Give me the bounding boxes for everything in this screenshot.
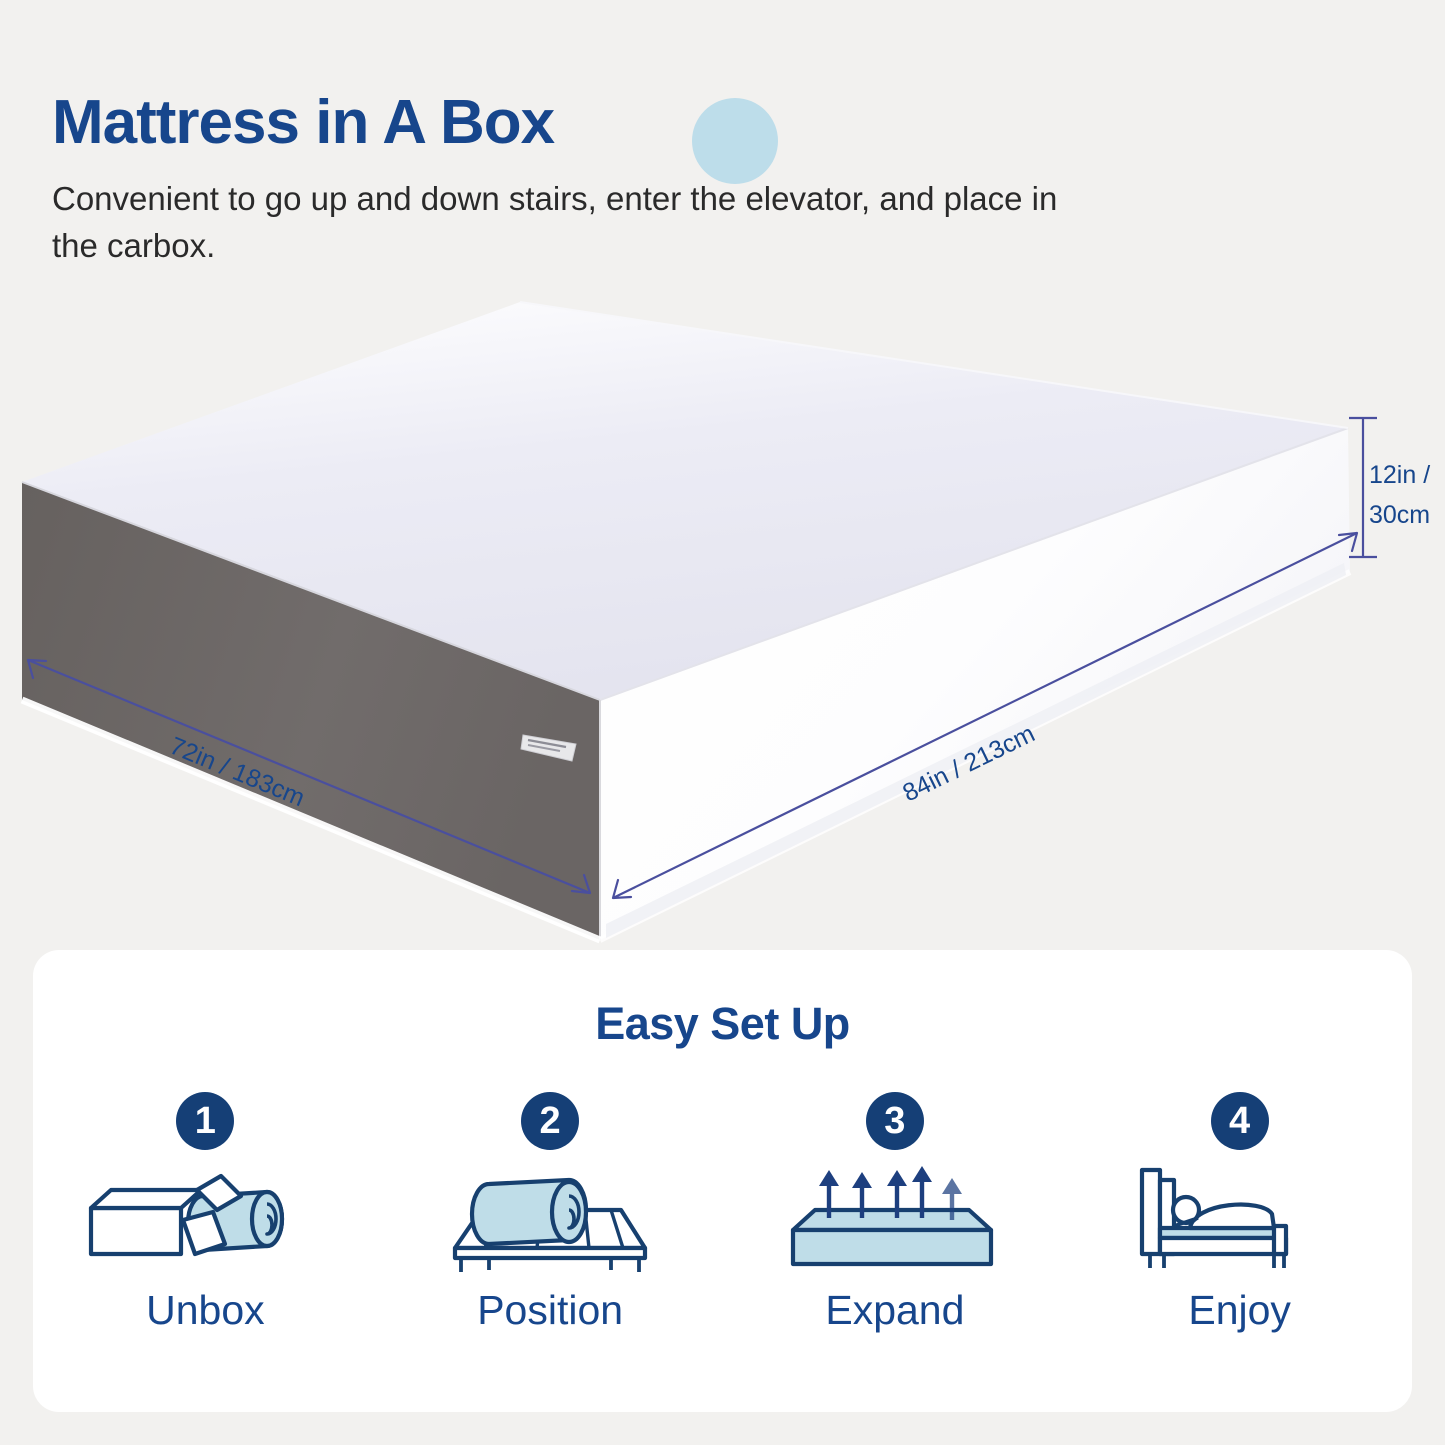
infographic-root: Mattress in A Box Convenient to go up an… xyxy=(0,0,1445,1445)
page-title-wrap: Mattress in A Box xyxy=(52,92,554,154)
setup-step-unbox: 1 xyxy=(55,1092,355,1331)
setup-steps: 1 xyxy=(33,1092,1412,1331)
box-body xyxy=(22,302,1350,940)
page-title: Mattress in A Box xyxy=(52,92,554,154)
dimension-height-label-line1: 12in / xyxy=(1369,461,1430,489)
setup-step-position: 2 xyxy=(400,1092,700,1331)
setup-step-enjoy: 4 xyxy=(1090,1092,1390,1331)
step-label: Position xyxy=(477,1290,623,1331)
easy-setup-card: Easy Set Up 1 xyxy=(33,950,1412,1412)
roll-on-bedframe-icon xyxy=(445,1166,655,1274)
step-number-badge: 3 xyxy=(866,1092,924,1150)
step-label: Enjoy xyxy=(1188,1290,1291,1331)
box-with-roll-icon xyxy=(85,1166,325,1274)
dimension-height-label-line2: 30cm xyxy=(1369,501,1430,529)
step-number-badge: 4 xyxy=(1211,1092,1269,1150)
step-label: Unbox xyxy=(146,1290,265,1331)
mattress-expanding-arrows-icon xyxy=(789,1166,1001,1274)
dimension-height: 12in / 30cm xyxy=(1349,418,1430,557)
step-number-badge: 2 xyxy=(521,1092,579,1150)
person-sleeping-in-bed-icon xyxy=(1134,1166,1346,1274)
setup-step-expand: 3 xyxy=(745,1092,1045,1331)
step-label: Expand xyxy=(825,1290,964,1331)
easy-setup-title: Easy Set Up xyxy=(33,950,1412,1050)
step-number-badge: 1 xyxy=(176,1092,234,1150)
